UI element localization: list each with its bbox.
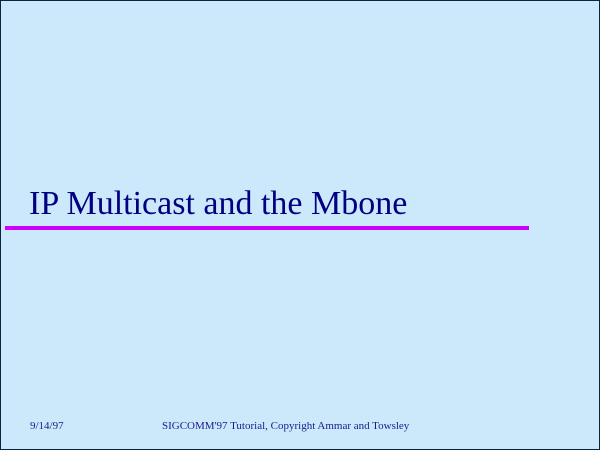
title-block: IP Multicast and the Mbone	[29, 184, 549, 228]
footer-credit: SIGCOMM'97 Tutorial, Copyright Ammar and…	[162, 419, 409, 433]
slide-body-empty-region	[5, 235, 597, 415]
title-underline-rule	[5, 226, 529, 230]
slide-upper-empty-region	[5, 5, 597, 181]
slide-footer: 9/14/97 SIGCOMM'97 Tutorial, Copyright A…	[1, 419, 600, 437]
footer-date: 9/14/97	[30, 419, 64, 433]
slide: IP Multicast and the Mbone 9/14/97 SIGCO…	[0, 0, 600, 450]
slide-title: IP Multicast and the Mbone	[29, 184, 549, 224]
